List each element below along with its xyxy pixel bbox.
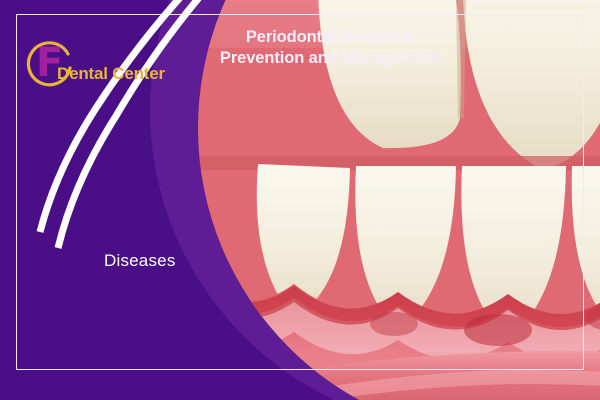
logo-name: Dental Center — [57, 64, 165, 84]
logo[interactable]: F Dental Center — [24, 36, 184, 92]
category-label: Diseases — [104, 251, 176, 271]
slide-canvas: F Dental Center Periodontal Diseases: Pr… — [0, 0, 600, 400]
page-title: Periodontal Diseases: Prevention and Man… — [186, 27, 476, 69]
page-title-line-2: Prevention and Management — [186, 48, 476, 69]
page-title-line-1: Periodontal Diseases: — [186, 27, 476, 48]
